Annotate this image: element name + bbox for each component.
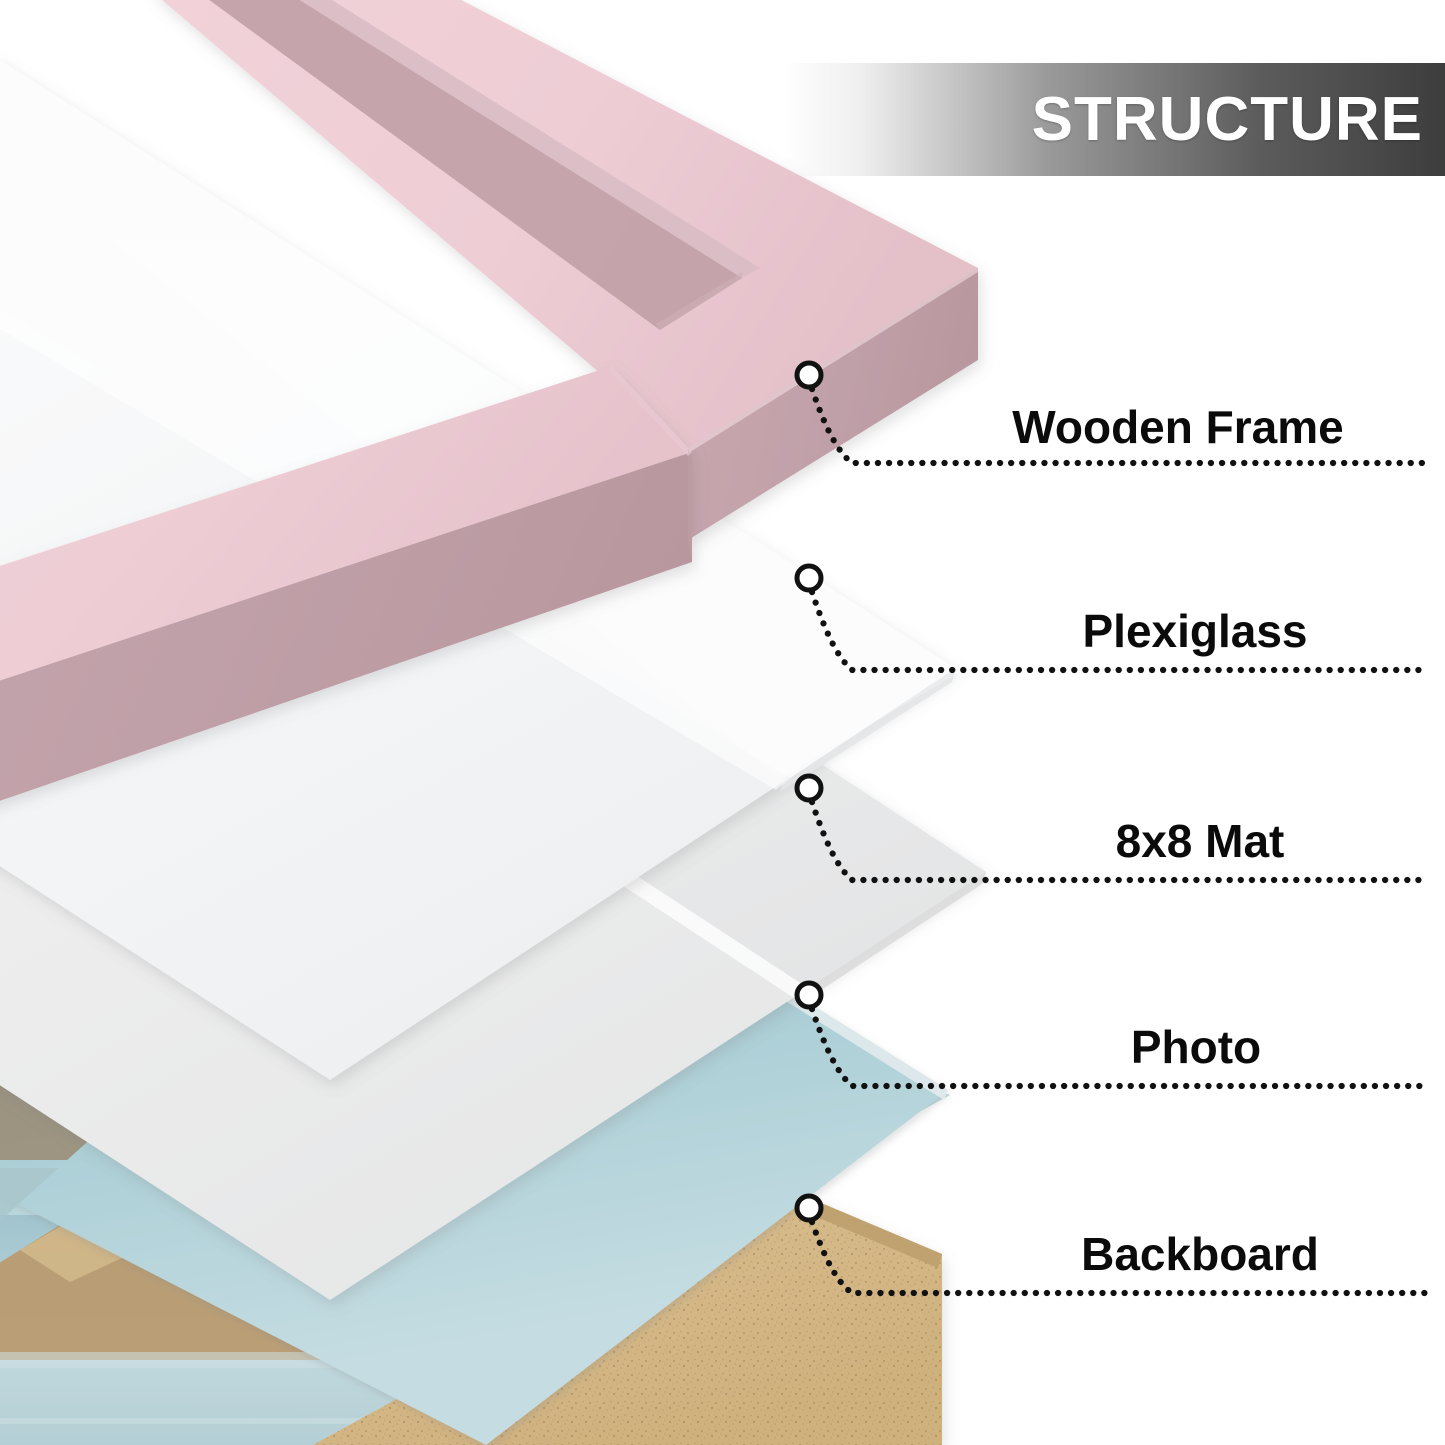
callout-label-mat: 8x8 Mat [1116, 818, 1285, 864]
marker-mat[interactable] [797, 776, 821, 800]
callout-label-wooden-frame: Wooden Frame [1012, 404, 1343, 450]
marker-plexiglass[interactable] [797, 566, 821, 590]
product-structure-diagram: STRUCTURE Wooden Frame Plexiglass 8x8 Ma… [0, 0, 1445, 1445]
callout-label-photo: Photo [1131, 1024, 1261, 1070]
callout-label-plexiglass: Plexiglass [1082, 608, 1307, 654]
page-title: STRUCTURE [1032, 89, 1423, 151]
callout-label-backboard: Backboard [1081, 1231, 1319, 1277]
marker-wooden-frame[interactable] [797, 363, 821, 387]
marker-photo[interactable] [797, 983, 821, 1007]
structure-title-banner: STRUCTURE [783, 63, 1445, 176]
marker-backboard[interactable] [797, 1196, 821, 1220]
